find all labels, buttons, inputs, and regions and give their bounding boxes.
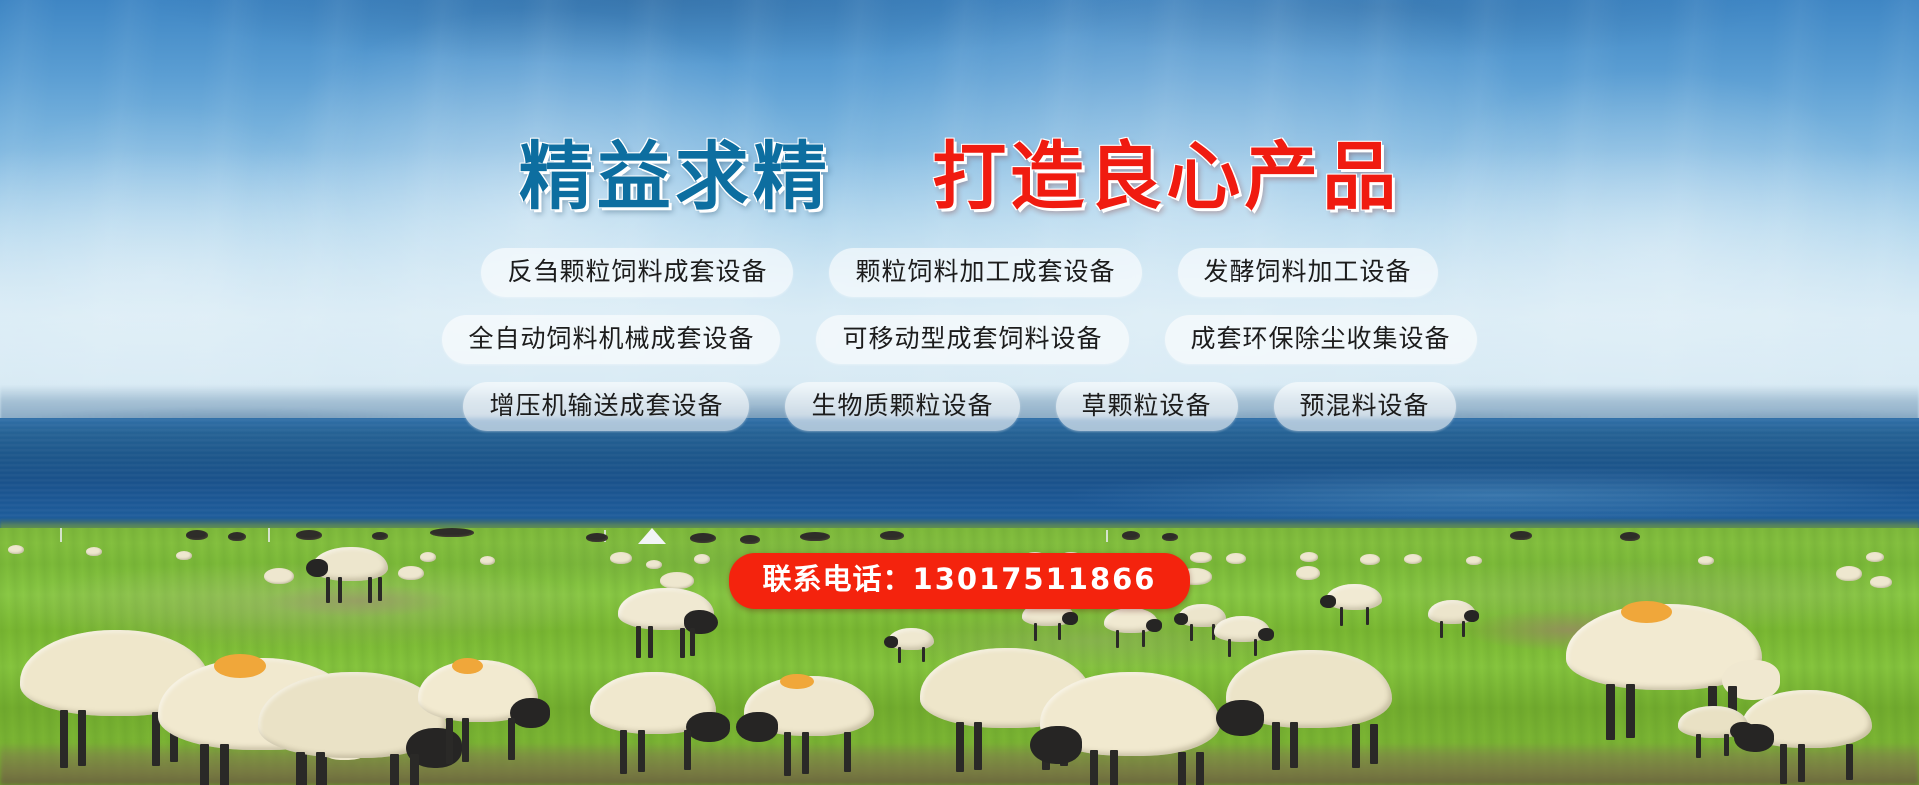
distant-animal bbox=[296, 530, 322, 540]
distant-animal bbox=[800, 532, 830, 541]
distant-animal bbox=[1510, 531, 1532, 540]
product-pill-grass-pellet[interactable]: 草颗粒设备 bbox=[1056, 382, 1238, 431]
product-pill-ruminant-pellet-feed[interactable]: 反刍颗粒饲料成套设备 bbox=[481, 248, 793, 297]
sheep bbox=[1566, 604, 1762, 690]
promo-banner: 精益求精 打造良心产品 反刍颗粒饲料成套设备 颗粒饲料加工成套设备 发酵饲料加工… bbox=[0, 0, 1919, 785]
distant-animal bbox=[880, 531, 904, 540]
distant-animal bbox=[740, 535, 760, 544]
fence-post bbox=[60, 528, 62, 542]
distant-animal bbox=[430, 528, 474, 537]
product-pill-biomass-pellet[interactable]: 生物质颗粒设备 bbox=[785, 382, 1019, 431]
distant-animal bbox=[186, 530, 208, 540]
sheep bbox=[1226, 650, 1392, 728]
product-pill-booster-conveying[interactable]: 增压机输送成套设备 bbox=[463, 382, 749, 431]
product-row-2: 全自动饲料机械成套设备 可移动型成套饲料设备 成套环保除尘收集设备 bbox=[442, 315, 1476, 364]
contact-phone-area: 联系电话：13017511866 bbox=[0, 553, 1919, 609]
distant-animal bbox=[586, 533, 608, 542]
sheep bbox=[1678, 706, 1748, 738]
sheep bbox=[888, 628, 934, 650]
contact-phone-label: 联系电话： bbox=[763, 562, 913, 596]
product-pill-mobile-feed-equipment[interactable]: 可移动型成套饲料设备 bbox=[816, 315, 1128, 364]
product-pill-pellet-feed-processing[interactable]: 颗粒饲料加工成套设备 bbox=[829, 248, 1141, 297]
fence-post bbox=[1106, 530, 1108, 542]
headline-red-text: 打造良心产品 bbox=[932, 134, 1400, 220]
headline-blue-text: 精益求精 bbox=[519, 134, 831, 220]
sheep bbox=[744, 676, 874, 736]
contact-phone-badge[interactable]: 联系电话：13017511866 bbox=[729, 553, 1191, 609]
sheep bbox=[1104, 608, 1158, 633]
fence-post bbox=[268, 528, 270, 542]
distant-animal bbox=[1122, 531, 1140, 540]
headline-slogan: 精益求精 打造良心产品 bbox=[0, 140, 1919, 214]
sheep bbox=[590, 672, 716, 734]
distant-animal bbox=[372, 532, 388, 540]
product-row-3: 增压机输送成套设备 生物质颗粒设备 草颗粒设备 预混料设备 bbox=[463, 382, 1455, 431]
lake-shimmer bbox=[0, 418, 1919, 528]
sheep bbox=[418, 660, 538, 722]
product-category-list: 反刍颗粒饲料成套设备 颗粒饲料加工成套设备 发酵饲料加工设备 全自动饲料机械成套… bbox=[0, 248, 1919, 431]
distant-animal bbox=[1162, 533, 1178, 541]
sheep bbox=[1214, 616, 1270, 642]
distant-animal bbox=[690, 533, 716, 543]
product-row-1: 反刍颗粒饲料成套设备 颗粒饲料加工成套设备 发酵饲料加工设备 bbox=[481, 248, 1437, 297]
product-pill-premix[interactable]: 预混料设备 bbox=[1274, 382, 1456, 431]
sheep bbox=[1742, 690, 1872, 748]
product-pill-dust-collection[interactable]: 成套环保除尘收集设备 bbox=[1165, 315, 1477, 364]
distant-animal bbox=[1620, 532, 1640, 541]
sheep bbox=[1040, 672, 1220, 756]
product-pill-automatic-feed-machinery[interactable]: 全自动饲料机械成套设备 bbox=[442, 315, 780, 364]
contact-phone-number: 13017511866 bbox=[913, 562, 1157, 596]
distant-animal bbox=[228, 532, 246, 541]
product-pill-fermented-feed[interactable]: 发酵饲料加工设备 bbox=[1178, 248, 1438, 297]
